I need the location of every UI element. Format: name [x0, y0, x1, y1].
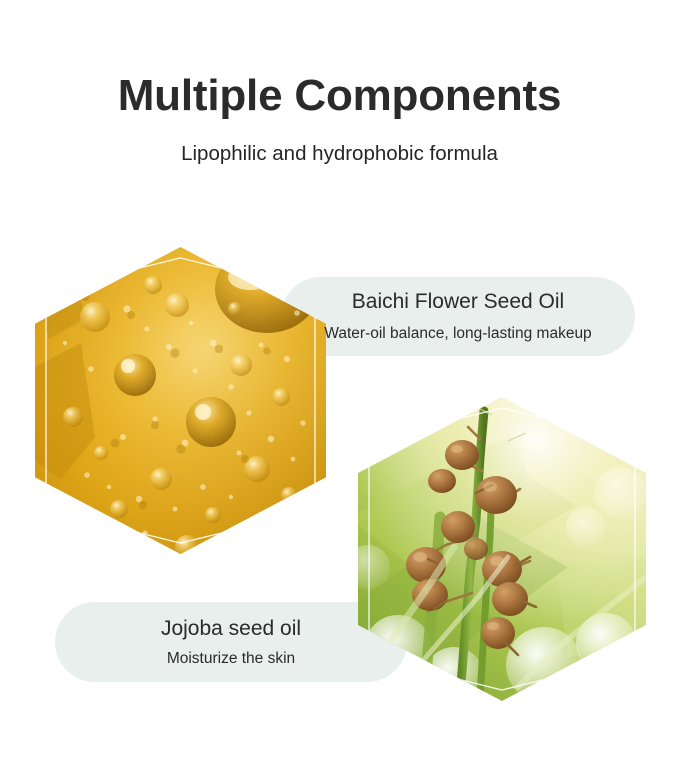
page-subtitle: Lipophilic and hydrophobic formula	[0, 141, 679, 167]
info-pill-jojoba	[55, 602, 407, 682]
component-subtitle-jojoba: Moisturize the skin	[55, 650, 407, 669]
component-subtitle-baichi: Water-oil balance, long-lasting makeup	[281, 325, 635, 344]
page-title: Multiple Components	[0, 72, 679, 120]
product-feature-panel: Multiple Components Lipophilic and hydro…	[0, 0, 679, 766]
component-title-jojoba: Jojoba seed oil	[55, 616, 407, 641]
component-title-baichi: Baichi Flower Seed Oil	[281, 289, 635, 314]
